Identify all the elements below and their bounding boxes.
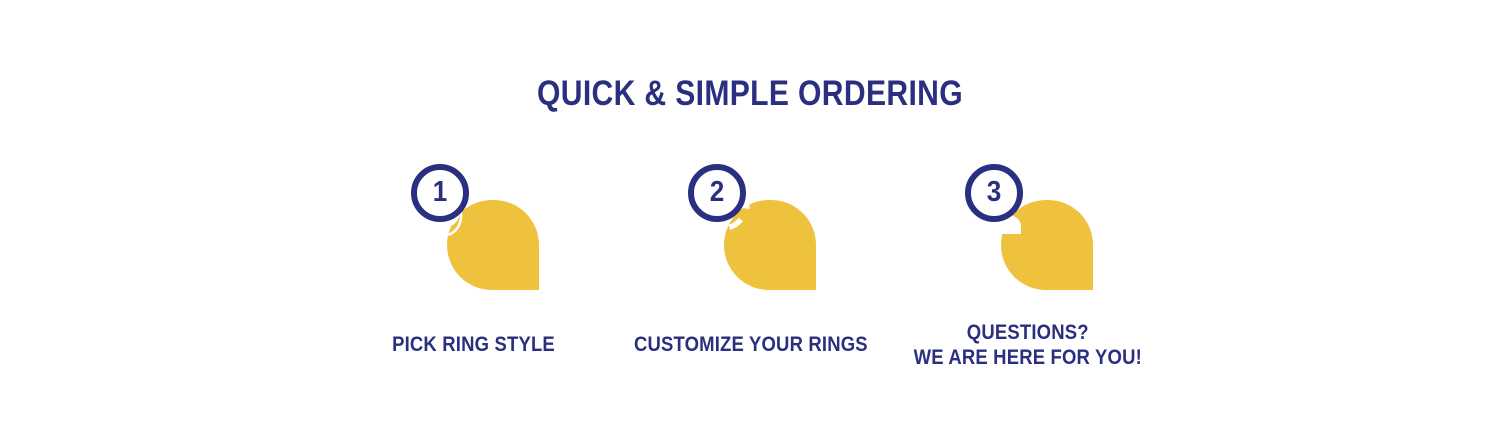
step-caption-3: QUESTIONS? WE ARE HERE FOR YOU! [914,320,1142,370]
step-caption-line: CUSTOMIZE YOUR RINGS [634,332,868,357]
step-caption-line: QUESTIONS? [914,320,1142,345]
step-number-badge-1: 1 [411,164,469,222]
steps-row: 1 PICK RING STYLE [336,160,1166,370]
page-title: QUICK & SIMPLE ORDERING [105,73,1395,115]
step-number-badge-3: 3 [965,164,1023,222]
step-caption-line: WE ARE HERE FOR YOU! [914,345,1142,370]
step-graphic-2: 2 [676,160,826,292]
step-item-3[interactable]: 3 QUESTIONS? WE ARE HERE FOR YOU! [890,160,1166,370]
quick-simple-ordering-banner: QUICK & SIMPLE ORDERING 1 PICK RING STYL [0,0,1500,422]
step-item-1[interactable]: 1 PICK RING STYLE [336,160,612,370]
step-number-1: 1 [433,178,448,207]
step-caption-1: PICK RING STYLE [393,332,556,357]
step-graphic-1: 1 [399,160,549,292]
step-graphic-3: 3 [953,160,1103,280]
step-number-3: 3 [987,178,1002,207]
step-caption-2: CUSTOMIZE YOUR RINGS [634,332,868,357]
step-number-badge-2: 2 [688,164,746,222]
step-item-2[interactable]: 2 CUSTOMIZE YOUR RINGS [613,160,889,370]
step-number-2: 2 [710,178,725,207]
step-caption-line: PICK RING STYLE [393,332,556,357]
